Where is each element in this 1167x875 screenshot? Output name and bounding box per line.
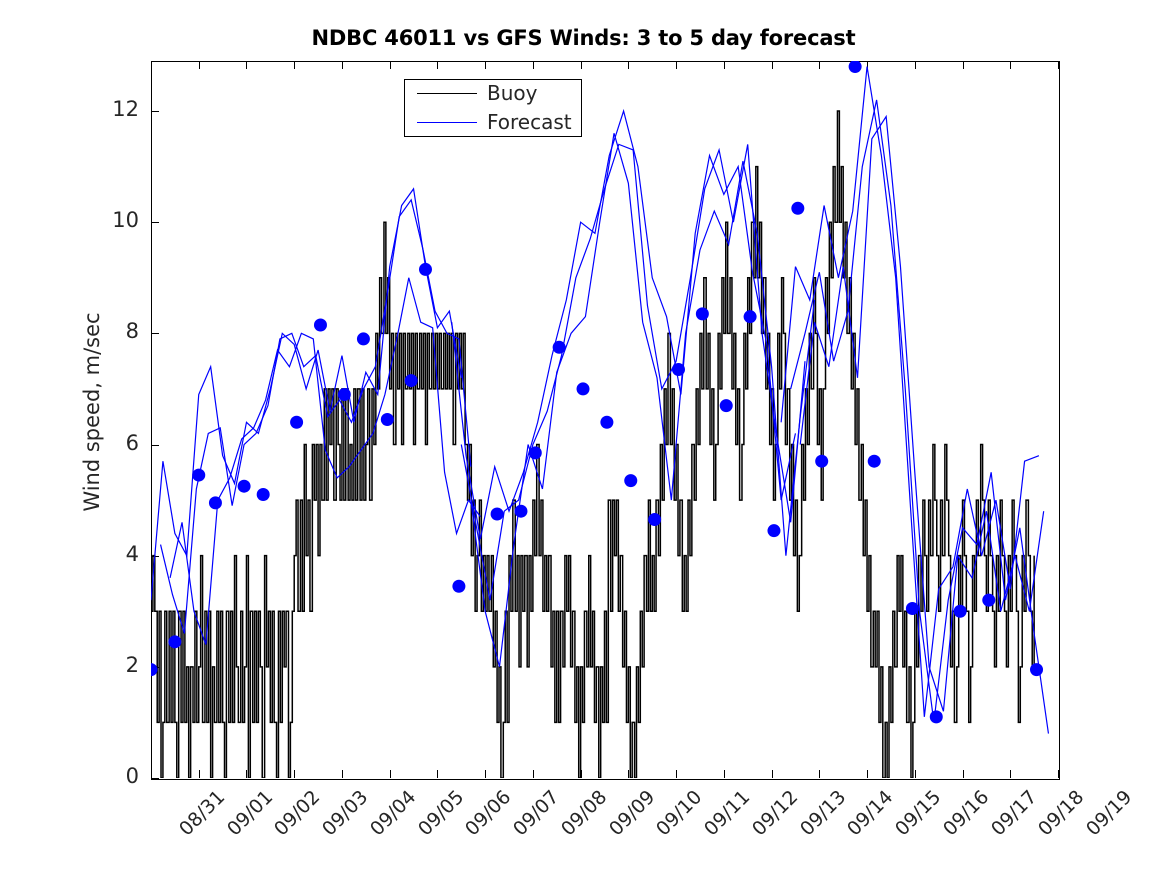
legend-swatch — [417, 122, 477, 123]
scatter-point — [815, 455, 828, 468]
chart-legend: BuoyForecast — [404, 79, 582, 137]
scatter-point — [744, 310, 757, 323]
legend-label: Forecast — [487, 110, 572, 134]
x-tick-label: 09/03 — [318, 786, 372, 840]
scatter-point — [192, 469, 205, 482]
scatter-point — [791, 202, 804, 215]
scatter-point — [381, 413, 394, 426]
scatter-point — [672, 363, 685, 376]
scatter-point — [954, 605, 967, 618]
scatter-point — [648, 513, 661, 526]
scatter-point — [906, 602, 919, 615]
x-tick-label: 09/05 — [414, 786, 468, 840]
scatter-point — [553, 341, 566, 354]
x-tick-label: 09/08 — [557, 786, 611, 840]
x-tick-label: 09/01 — [223, 786, 277, 840]
x-tick-label: 08/31 — [175, 786, 229, 840]
scatter-point — [624, 474, 637, 487]
scatter-point — [767, 524, 780, 537]
scatter-point — [290, 416, 303, 429]
scatter-point — [357, 332, 370, 345]
scatter-point — [257, 488, 270, 501]
scatter-point — [696, 307, 709, 320]
x-tick-label: 09/15 — [891, 786, 945, 840]
x-tick-label: 09/18 — [1034, 786, 1088, 840]
scatter-point — [238, 480, 251, 493]
x-tick-label: 09/19 — [1082, 786, 1136, 840]
scatter-point — [868, 455, 881, 468]
x-tick-label: 09/13 — [796, 786, 850, 840]
y-tick-label: 6 — [79, 431, 139, 455]
y-tick-label: 0 — [79, 764, 139, 788]
x-tick-label: 09/11 — [700, 786, 754, 840]
scatter-point — [529, 446, 542, 459]
legend-label: Buoy — [487, 81, 537, 105]
scatter-point — [419, 263, 432, 276]
x-tick-label: 09/04 — [366, 786, 420, 840]
x-tick-label: 09/07 — [509, 786, 563, 840]
scatter-point — [314, 319, 327, 332]
x-tick-label: 09/10 — [652, 786, 706, 840]
y-tick-label: 12 — [79, 97, 139, 121]
x-tick-label: 09/06 — [461, 786, 515, 840]
scatter-point — [982, 594, 995, 607]
legend-swatch — [417, 93, 477, 94]
y-tick-label: 2 — [79, 653, 139, 677]
y-tick-label: 10 — [79, 208, 139, 232]
scatter-point — [600, 416, 613, 429]
scatter-point — [720, 399, 733, 412]
chart-canvas — [151, 61, 1058, 778]
legend-item: Forecast — [405, 109, 583, 138]
chart-svg — [151, 61, 1058, 778]
scatter-point — [849, 61, 862, 73]
scatter-point — [491, 507, 504, 520]
x-tick-label: 09/14 — [843, 786, 897, 840]
y-tick-label: 4 — [79, 542, 139, 566]
scatter-point — [452, 580, 465, 593]
x-tick-label: 09/17 — [987, 786, 1041, 840]
scatter-point — [1030, 663, 1043, 676]
x-tick-label: 09/16 — [939, 786, 993, 840]
legend-item: Buoy — [405, 80, 583, 109]
x-tick-label: 09/12 — [748, 786, 802, 840]
chart-figure: NDBC 46011 vs GFS Winds: 3 to 5 day fore… — [0, 0, 1167, 875]
y-tick-label: 8 — [79, 319, 139, 343]
scatter-point — [338, 388, 351, 401]
scatter-point — [577, 382, 590, 395]
scatter-point — [168, 635, 181, 648]
scatter-point — [405, 374, 418, 387]
scatter-point — [930, 710, 943, 723]
x-tick-label: 09/09 — [605, 786, 659, 840]
series-forecast — [452, 111, 796, 539]
scatter-point — [209, 496, 222, 509]
series-buoy — [151, 111, 1034, 778]
chart-title: NDBC 46011 vs GFS Winds: 3 to 5 day fore… — [0, 26, 1167, 50]
scatter-point — [514, 505, 527, 518]
x-tick-label: 09/02 — [271, 786, 325, 840]
